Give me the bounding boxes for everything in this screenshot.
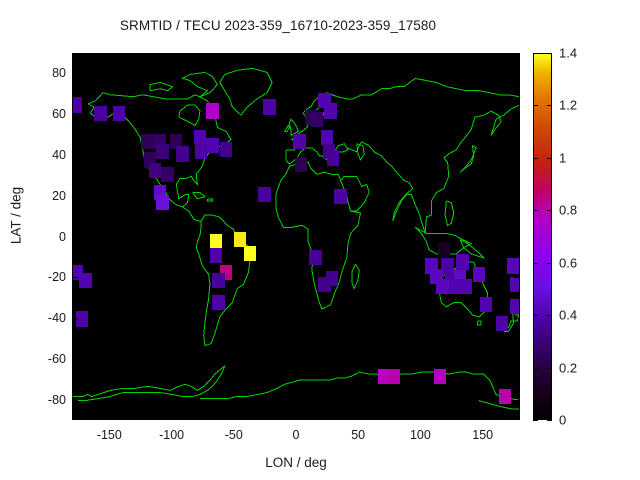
y-axis-tick-mark [72, 73, 78, 74]
x-axis-tick-mark [296, 414, 297, 420]
y-axis-tick-label: 0 [26, 230, 66, 244]
data-cell [510, 277, 520, 292]
data-cell [176, 146, 188, 161]
y-axis-tick-mark [72, 400, 78, 401]
colorbar-tick-label: 0 [559, 413, 566, 428]
colorbar-tick-mark [533, 315, 538, 316]
colorbar-tick-mark [533, 263, 538, 264]
data-cell [210, 248, 222, 263]
colorbar-tick-label: 0.8 [559, 203, 577, 218]
data-cell [510, 299, 520, 314]
data-cell [210, 234, 222, 249]
data-cell [113, 106, 125, 121]
colorbar-tick-mark [533, 368, 538, 369]
colorbar-tick-label: 1 [559, 150, 566, 165]
y-axis-tick-mark [514, 359, 520, 360]
y-axis-tick-label: -60 [26, 352, 66, 366]
x-axis-tick-mark [234, 414, 235, 420]
x-axis-tick-mark [420, 53, 421, 59]
data-cell [156, 144, 168, 159]
data-cell [309, 250, 321, 265]
colorbar-tick-label: 1.4 [559, 46, 577, 61]
colorbar-tick-mark [533, 53, 538, 54]
colorbar-tick-mark [547, 210, 552, 211]
colorbar-tick-mark [547, 263, 552, 264]
colorbar-gradient [534, 54, 551, 419]
data-cell [321, 130, 333, 145]
data-cell [220, 142, 232, 157]
data-cell [507, 258, 519, 273]
data-cell [263, 99, 275, 114]
data-cell [94, 106, 106, 121]
colorbar [533, 53, 552, 420]
x-axis-tick-mark [296, 53, 297, 59]
data-cell [311, 112, 323, 127]
y-axis-tick-mark [72, 318, 78, 319]
y-axis-tick-label: 80 [26, 66, 66, 80]
x-axis-tick-mark [483, 53, 484, 59]
y-axis-tick-mark [514, 318, 520, 319]
y-axis-tick-mark [72, 277, 78, 278]
data-cell [72, 97, 82, 112]
data-cell [295, 157, 307, 172]
y-axis-tick-label: 40 [26, 148, 66, 162]
colorbar-tick-mark [547, 105, 552, 106]
data-cell [141, 134, 153, 149]
colorbar-tick-label: 0.2 [559, 360, 577, 375]
data-cell [456, 254, 468, 269]
data-cell [460, 279, 472, 294]
y-axis-tick-mark [514, 196, 520, 197]
data-cell [434, 369, 446, 384]
x-axis-tick-mark [234, 53, 235, 59]
x-axis-tick-mark [172, 53, 173, 59]
colorbar-tick-mark [533, 420, 538, 421]
y-axis-tick-mark [514, 277, 520, 278]
colorbar-tick-mark [547, 368, 552, 369]
data-cell [480, 297, 492, 312]
x-axis-tick-mark [420, 414, 421, 420]
data-cell [234, 232, 246, 247]
data-cell [293, 134, 305, 149]
x-axis-tick-mark [172, 414, 173, 420]
map-plot-area [72, 53, 520, 420]
y-axis-tick-label: 60 [26, 107, 66, 121]
x-axis-tick-label: 50 [351, 428, 365, 442]
x-axis-tick-label: -100 [159, 428, 184, 442]
data-cell [212, 273, 224, 288]
colorbar-tick-mark [547, 420, 552, 421]
y-axis-tick-label: 20 [26, 189, 66, 203]
y-axis-tick-mark [514, 400, 520, 401]
y-axis-tick-label: -80 [26, 393, 66, 407]
y-axis-tick-label: -20 [26, 270, 66, 284]
colorbar-tick-label: 0.4 [559, 308, 577, 323]
data-cell [156, 195, 168, 210]
data-cell [161, 167, 173, 182]
data-cell-layer [73, 54, 520, 420]
x-axis-tick-mark [483, 414, 484, 420]
data-cell [244, 246, 256, 261]
x-axis-tick-mark [109, 53, 110, 59]
data-cell [79, 273, 91, 288]
y-axis-tick-mark [72, 237, 78, 238]
y-axis-tick-mark [514, 73, 520, 74]
data-cell [473, 267, 485, 282]
colorbar-tick-mark [547, 315, 552, 316]
colorbar-tick-mark [533, 210, 538, 211]
y-axis-label: LAT / deg [9, 156, 24, 276]
colorbar-tick-mark [533, 158, 538, 159]
x-axis-tick-label: -150 [97, 428, 122, 442]
data-cell [436, 279, 448, 294]
x-axis-tick-mark [358, 414, 359, 420]
data-cell [324, 103, 336, 118]
data-cell [206, 103, 218, 118]
data-cell [438, 242, 450, 257]
data-cell [496, 316, 508, 331]
x-axis-tick-label: 0 [293, 428, 300, 442]
y-axis-tick-mark [514, 237, 520, 238]
data-cell [499, 389, 511, 404]
colorbar-tick-mark [547, 158, 552, 159]
x-axis-tick-label: 150 [472, 428, 493, 442]
y-axis-tick-mark [72, 359, 78, 360]
y-axis-tick-mark [72, 114, 78, 115]
y-axis-tick-label: -40 [26, 311, 66, 325]
x-axis-tick-label: -50 [225, 428, 243, 442]
data-cell [318, 277, 330, 292]
x-axis-tick-mark [109, 414, 110, 420]
data-cell [334, 189, 346, 204]
colorbar-tick-label: 0.6 [559, 255, 577, 270]
y-axis-tick-mark [72, 196, 78, 197]
y-axis-tick-mark [72, 155, 78, 156]
data-cell [258, 187, 270, 202]
colorbar-tick-mark [547, 53, 552, 54]
colorbar-tick-mark [533, 105, 538, 106]
y-axis-tick-mark [514, 155, 520, 156]
colorbar-tick-label: 1.2 [559, 98, 577, 113]
data-cell [212, 295, 224, 310]
x-axis-tick-label: 100 [410, 428, 431, 442]
data-cell [327, 150, 339, 165]
data-cell [194, 130, 206, 145]
data-cell [149, 163, 161, 178]
data-cell [195, 144, 207, 159]
chart-title: SRMTID / TECU 2023-359_16710-2023-359_17… [0, 18, 556, 33]
x-axis-tick-mark [358, 53, 359, 59]
y-axis-tick-mark [514, 114, 520, 115]
figure-canvas: SRMTID / TECU 2023-359_16710-2023-359_17… [0, 0, 640, 480]
x-axis-label: LON / deg [72, 455, 520, 470]
data-cell [388, 369, 400, 384]
data-cell [206, 138, 218, 153]
